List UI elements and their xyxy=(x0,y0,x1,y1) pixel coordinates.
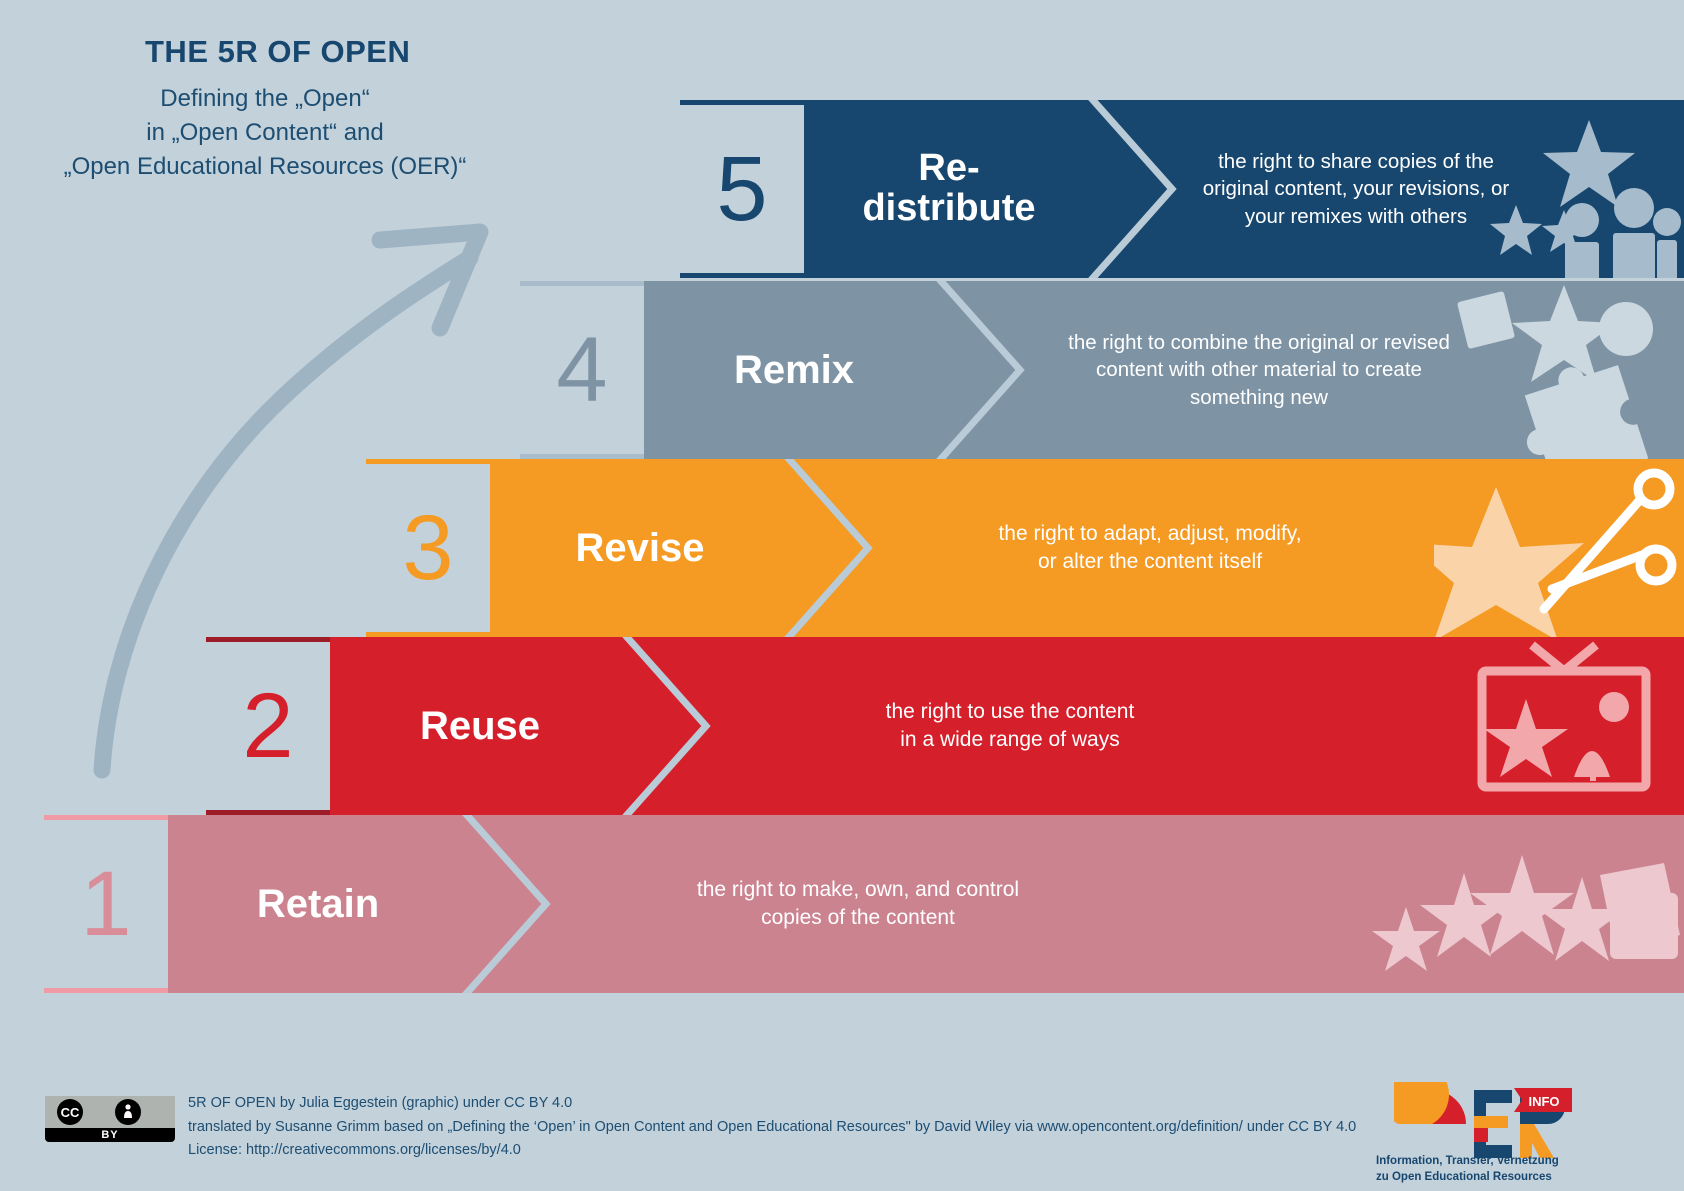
row-label-line: Reuse xyxy=(330,705,630,747)
row-retain[interactable]: 1 Retain the right to make, own, and con… xyxy=(44,815,1684,993)
cc-by-license-badge[interactable]: CC BY xyxy=(45,1096,175,1142)
credit-line-3: License: http://creativecommons.org/lice… xyxy=(188,1139,1288,1163)
row-description-1: the right to make, own, and control copi… xyxy=(568,876,1148,932)
credit-line-1: 5R OF OPEN by Julia Eggestein (graphic) … xyxy=(188,1092,1288,1116)
oer-logo-o-pie xyxy=(1394,1082,1466,1124)
row-label-5: Re- distribute xyxy=(804,149,1094,229)
row-bar-5[interactable]: Re- distribute the right to share copies… xyxy=(804,100,1684,278)
chevron-divider-3 xyxy=(772,459,882,637)
desc-line: copies of the content xyxy=(568,904,1148,932)
chevron-divider-5 xyxy=(1076,100,1186,278)
row-number-4: 4 xyxy=(520,324,644,416)
credits-block: 5R OF OPEN by Julia Eggestein (graphic) … xyxy=(188,1092,1288,1163)
tagline-line-2: zu Open Educational Resources xyxy=(1376,1170,1576,1186)
desc-line: in a wide range of ways xyxy=(730,726,1290,754)
row-bar-3[interactable]: Revise the right to adapt, adjust, modif… xyxy=(490,459,1684,637)
attribution-person-icon xyxy=(115,1099,141,1125)
desc-line: or alter the content itself xyxy=(890,548,1410,576)
number-rule-top-1 xyxy=(44,815,168,820)
row-label-line: distribute xyxy=(804,189,1094,229)
row-number-cell-5: 5 xyxy=(680,100,804,278)
row-number-cell-3: 3 xyxy=(366,459,490,637)
row-description-2: the right to use the content in a wide r… xyxy=(730,698,1290,754)
row-description-3: the right to adapt, adjust, modify, or a… xyxy=(890,520,1410,576)
chevron-divider-4 xyxy=(924,281,1034,459)
cc-icon: CC xyxy=(57,1099,83,1125)
row-number-cell-2: 2 xyxy=(206,637,330,815)
row-label-3: Revise xyxy=(490,527,790,569)
row-redistribute[interactable]: 5 Re- distribute the right to share copi… xyxy=(680,100,1684,278)
oer-logo-info-badge: INFO xyxy=(1514,1088,1572,1112)
people-stars-icon xyxy=(1464,100,1684,278)
desc-line: the right to combine the original or rev… xyxy=(1034,329,1484,356)
row-bar-2[interactable]: Reuse the right to use the content in a … xyxy=(330,637,1684,815)
footer: CC BY 5R OF OPEN by Julia Eggestein (gra… xyxy=(0,996,1684,1191)
number-rule-bottom-5 xyxy=(680,273,804,278)
row-number-3: 3 xyxy=(366,502,490,594)
cc-by-label: BY xyxy=(45,1129,175,1141)
number-rule-bottom-1 xyxy=(44,988,168,993)
row-label-line: Remix xyxy=(644,349,944,391)
chevron-divider-1 xyxy=(450,815,560,993)
scissors-star-icon xyxy=(1434,459,1684,637)
row-remix[interactable]: 4 Remix the right to combine the origina… xyxy=(520,281,1684,459)
row-number-2: 2 xyxy=(206,680,330,772)
oer-logo-e xyxy=(1474,1090,1512,1158)
desc-line: something new xyxy=(1034,384,1484,411)
number-rule-top-3 xyxy=(366,459,490,464)
desc-line: content with other material to create xyxy=(1034,356,1484,383)
shapes-puzzle-icon xyxy=(1454,281,1684,459)
desc-line: the right to use the content xyxy=(730,698,1290,726)
row-number-cell-4: 4 xyxy=(520,281,644,459)
row-label-2: Reuse xyxy=(330,705,630,747)
row-label-line: Revise xyxy=(490,527,790,569)
folder-stars-icon xyxy=(1364,815,1684,993)
number-rule-top-2 xyxy=(206,637,330,642)
row-label-line: Retain xyxy=(168,883,468,925)
row-bar-4[interactable]: Remix the right to combine the original … xyxy=(644,281,1684,459)
row-label-line: Re- xyxy=(804,149,1094,189)
row-reuse[interactable]: 2 Reuse the right to use the content in … xyxy=(206,637,1684,815)
row-number-1: 1 xyxy=(44,858,168,950)
row-number-5: 5 xyxy=(680,143,804,235)
row-bar-1[interactable]: Retain the right to make, own, and contr… xyxy=(168,815,1684,993)
desc-line: the right to adapt, adjust, modify, xyxy=(890,520,1410,548)
chevron-divider-2 xyxy=(610,637,720,815)
row-label-4: Remix xyxy=(644,349,944,391)
picture-frame-icon xyxy=(1454,637,1684,815)
row-revise[interactable]: 3 Revise the right to adapt, adjust, mod… xyxy=(366,459,1684,637)
five-r-rows: 5 Re- distribute the right to share copi… xyxy=(0,0,1684,1000)
row-label-1: Retain xyxy=(168,883,468,925)
person-glyph xyxy=(119,1103,137,1121)
oer-logo-tagline: Information, Transfer, Vernetzung zu Ope… xyxy=(1376,1154,1576,1185)
tagline-line-1: Information, Transfer, Vernetzung xyxy=(1376,1154,1576,1170)
number-rule-top-4 xyxy=(520,281,644,286)
row-description-4: the right to combine the original or rev… xyxy=(1034,329,1484,411)
number-rule-top-5 xyxy=(680,100,804,105)
row-number-cell-1: 1 xyxy=(44,815,168,993)
credit-line-2: translated by Susanne Grimm based on „De… xyxy=(188,1116,1288,1140)
svg-text:INFO: INFO xyxy=(1528,1094,1559,1109)
desc-line: the right to make, own, and control xyxy=(568,876,1148,904)
